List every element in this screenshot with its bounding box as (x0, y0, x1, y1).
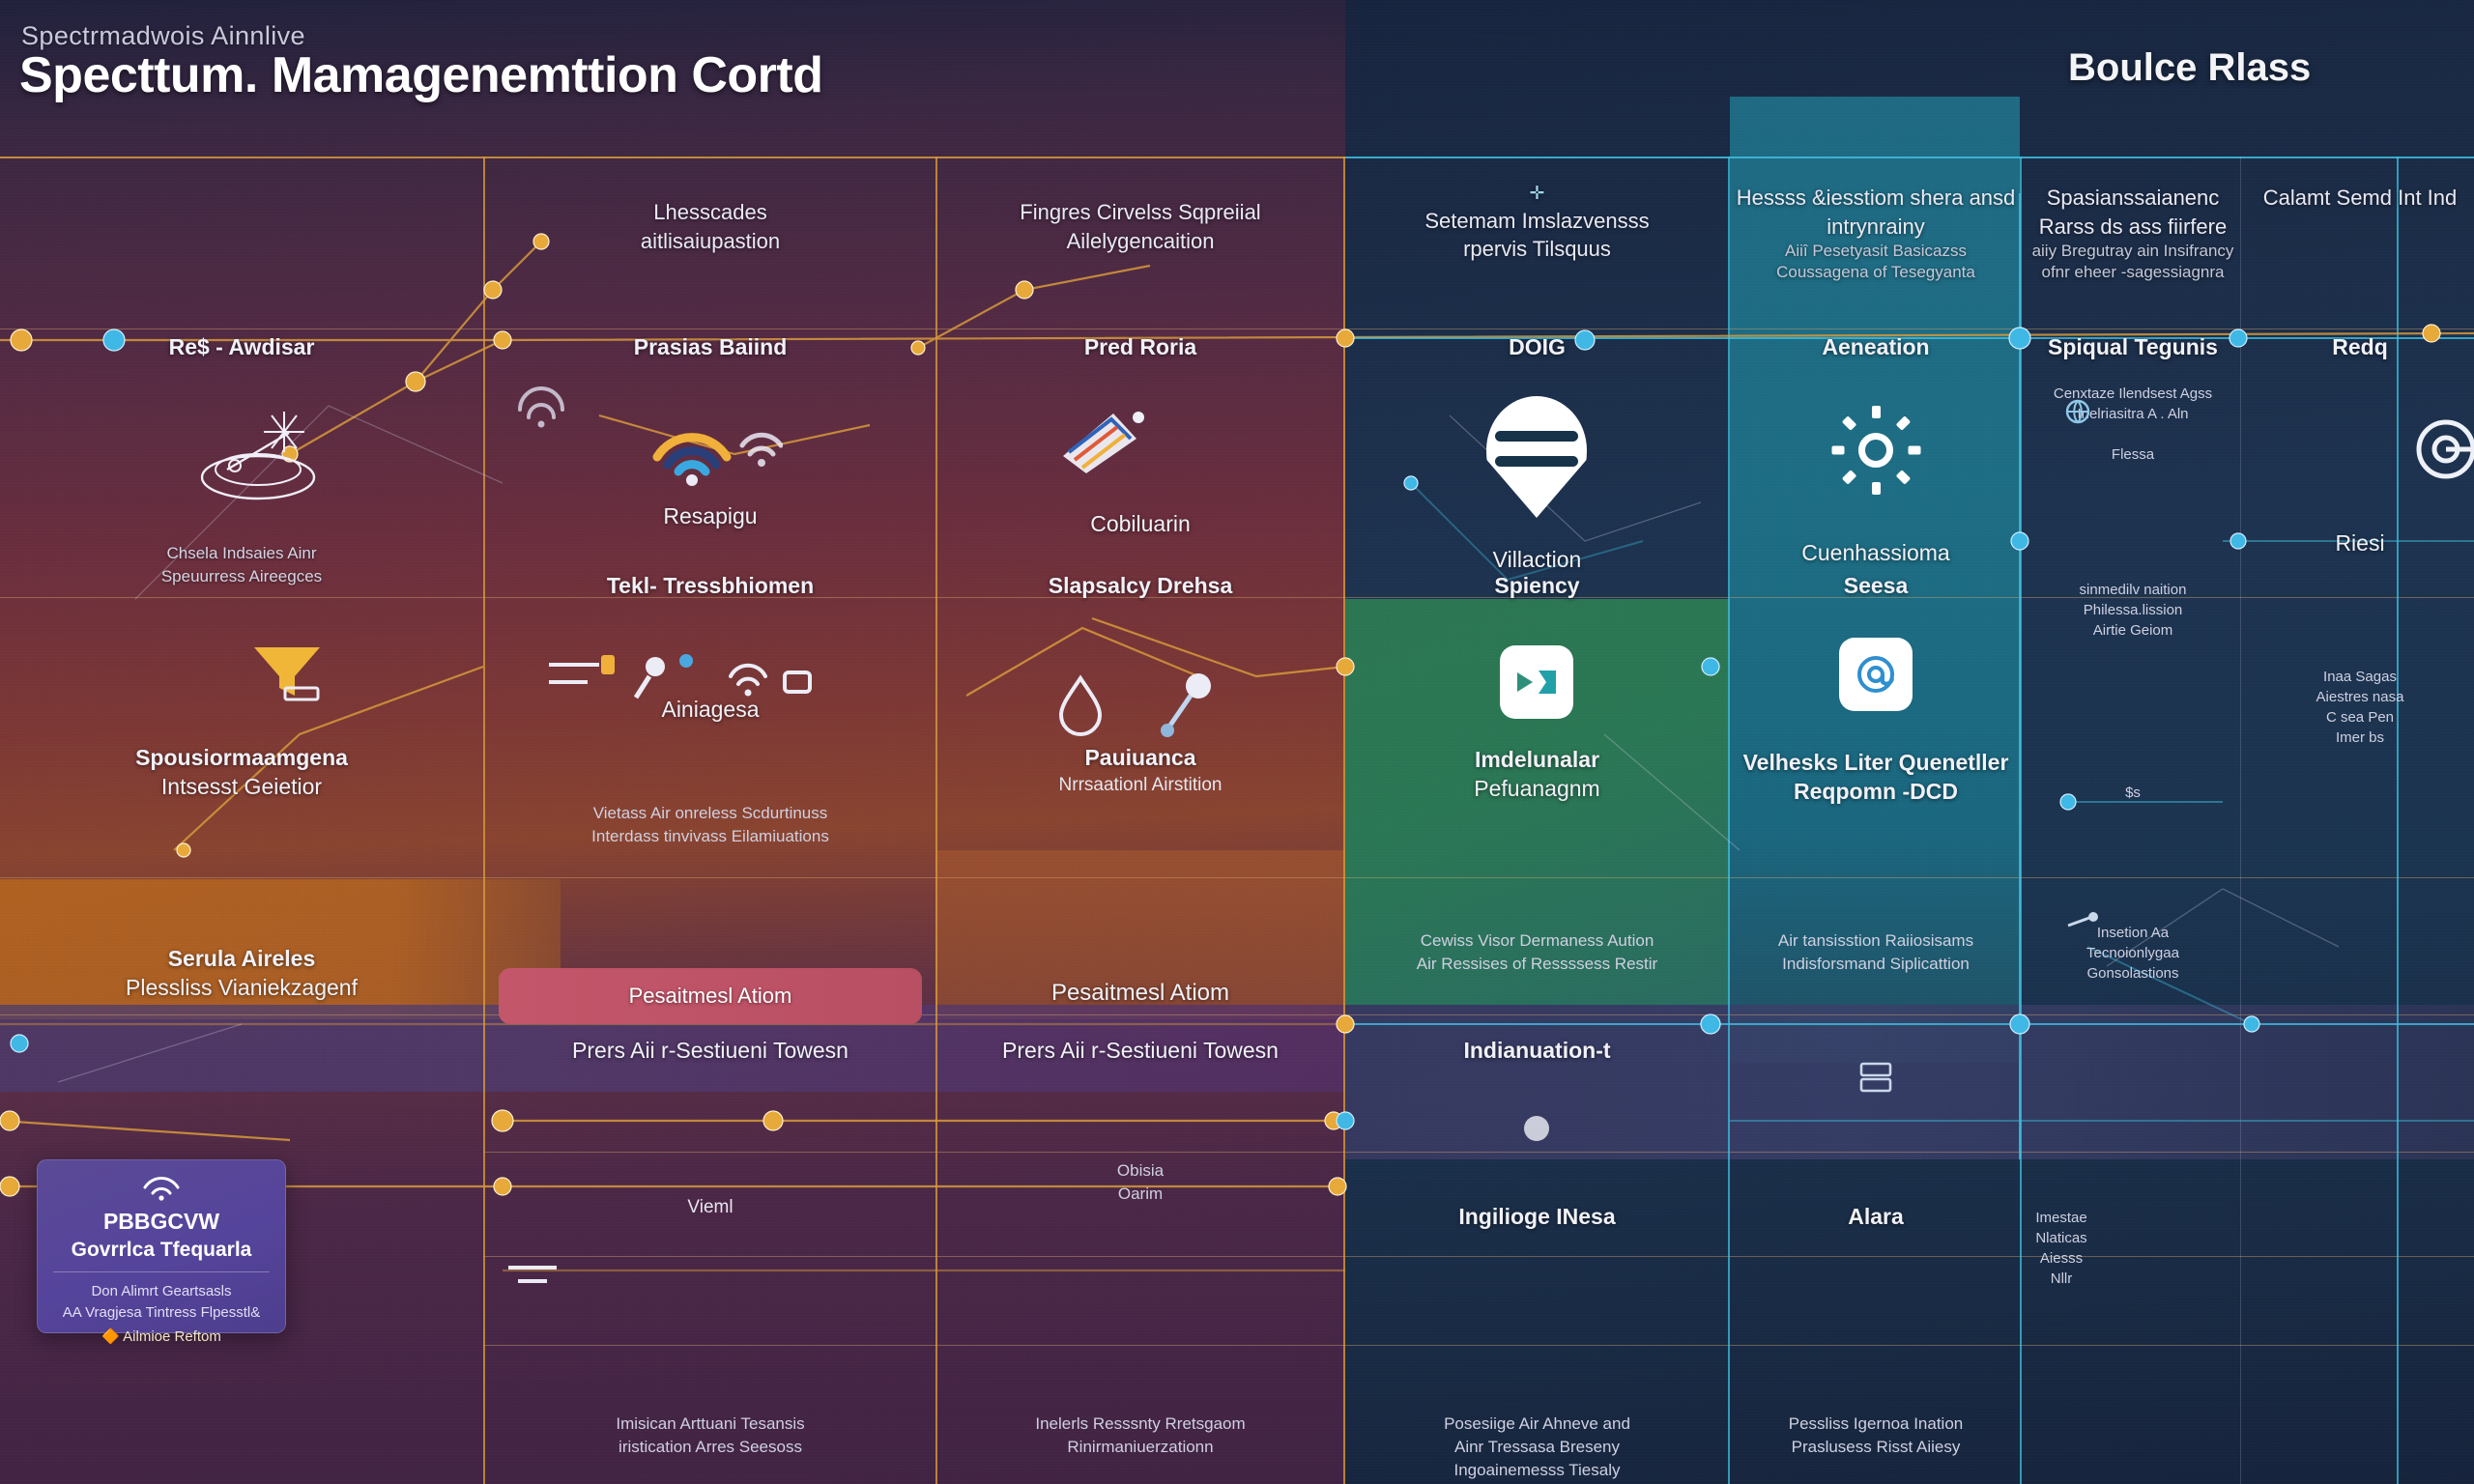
purple-band-right (1345, 1005, 2474, 1159)
cell-vieml[interactable]: Ingilioge INesa (1351, 1203, 1723, 1232)
infographic-canvas: Spectrmadwois Ainnlive Specttum. Mamagen… (0, 0, 2474, 1484)
at-sign-icon (1839, 638, 1913, 711)
legend-title-2: Govrrlca Tfequarla (47, 1238, 275, 1263)
cell-pesaitmesl-text[interactable]: Pesaitmesl Atiom (942, 978, 1338, 1008)
cell-title: Serula Aireles (19, 945, 464, 974)
cell-prers: Prers Aii r-Sestiueni Towesn (942, 1037, 1338, 1066)
cell-desc: Imestae Nlaticas Aiesss Nllr (2028, 1208, 2095, 1289)
cell-satellite[interactable]: Re$ - Awdisar (19, 333, 464, 362)
cell-desc: Pefuanagnm (1351, 775, 1723, 804)
cell-title: Pred Roria (942, 333, 1338, 362)
cell-title: Indianuation-t (1351, 1037, 1723, 1066)
cell-desc: Prers Aii r-Sestiueni Towesn (493, 1037, 928, 1066)
spark-icon: 🔶 (101, 1328, 120, 1345)
cell-spiency-desc: Imdelunalar Pefuanagnm (1351, 746, 1723, 804)
sunburst-icon (1831, 406, 1920, 495)
pill-label: Pesaitmesl Atiom (629, 984, 792, 1009)
column-header-title: Hessss &iesstiom shera ansd intrynrainy (1735, 184, 2017, 241)
cell-title: Imdelunalar (1351, 746, 1723, 775)
cell-desc: Cobiluarin (942, 510, 1338, 539)
cell-title: Velhesks Liter Quenetller (1735, 749, 2017, 778)
column-header-3: Fingres Cirvelss Sqpreiial Ailelygencait… (942, 198, 1338, 255)
page-title: Specttum. Mamagenemttion Cortd (19, 46, 823, 104)
cell-indianuation[interactable]: Indianuation-t (1351, 1037, 1723, 1066)
target-icon (2412, 415, 2474, 483)
cell-title: Pesaitmesl Atiom (942, 978, 1338, 1008)
serula-pill[interactable]: Pesaitmesl Atiom (499, 968, 922, 1024)
cell-title: Ingilioge INesa (1351, 1203, 1723, 1232)
cell-desc: Insetion Aa Tecnoionlygaa Gonsolastions (2028, 923, 2238, 984)
page-header: Spectrmadwois Ainnlive Specttum. Mamagen… (0, 0, 2474, 159)
cell-desc: sinmedilv naition Philessa.lission Airti… (2028, 580, 2238, 641)
cell-obisia[interactable]: Alara (1735, 1203, 2017, 1232)
chip-glyph (1513, 663, 1560, 701)
cell-desc: Cenxtaze Ilendsest Agss Inelriasitra A .… (2028, 384, 2238, 465)
column-header-subtitle: aiiy Bregutray ain Insifrancy ofnr eheer… (2028, 241, 2238, 283)
column-header-4: ✛ Setemam Imslazvensss rpervis Tilsquus (1351, 182, 1723, 264)
cell-desc: Villaction (1351, 546, 1723, 575)
cell-desc: Resapigu (493, 502, 928, 531)
legend-line-2: AA Vragjesa Tintress Flpesstl& (47, 1302, 275, 1324)
satellite-dish-icon (188, 406, 333, 512)
cell-redq[interactable]: Redq (2248, 333, 2472, 362)
cell-insetion: Inaa Sagas Aiestres nasa C sea Pen Imer … (2248, 667, 2472, 748)
cell-title: Aeneation (1735, 333, 2017, 362)
cell-flont: Air tansisstion Raiiosisams Indisforsman… (1735, 929, 2017, 976)
cell-desc: Ainiagesa (493, 696, 928, 725)
cell-aelanvastieny: Inelerls Resssnty Rretsgaom Rinirmaniuer… (942, 1413, 1338, 1459)
cell-tekl[interactable]: Tekl- Tressbhiomen (493, 572, 928, 601)
node-icon (1519, 1111, 1554, 1146)
wifi-icon (638, 401, 783, 488)
cell-title: Prasias Baiind (493, 333, 928, 362)
cell-desc: Posesiige Air Ahneve and Ainr Tressasa B… (1351, 1413, 1723, 1484)
cell-lnitun: Imisican Arttuani Tesansis iristication … (493, 1413, 928, 1459)
cell-title: Alara (1735, 1203, 2017, 1232)
cell-seesa-desc: Velhesks Liter Quenetller Reqpomn -DCD (1735, 749, 2017, 807)
cell-title: Spousiormaamgena (19, 744, 464, 773)
at-glyph (1854, 652, 1898, 697)
cell-redq-desc: Riesi (2248, 529, 2472, 558)
cell-desc: Inelerls Resssnty Rretsgaom Rinirmaniuer… (942, 1413, 1338, 1459)
cell-title: Pauiuanca (942, 744, 1338, 773)
cell-title: Seesa (1735, 572, 2017, 601)
cell-title: Obisia (942, 1159, 1338, 1183)
cell-desc: Nrrsaationl Airstition (942, 773, 1338, 798)
column-header-title: Setemam Imslazvensss (1351, 207, 1723, 236)
broadcast-icon (1053, 396, 1160, 483)
column-header-title: Spasianssaianenc Rarss ds ass fiirfere (2028, 184, 2238, 241)
cell-desc: Reqpomn -DCD (1735, 778, 2017, 807)
legend-line-1: Don Alimrt Geartsasls (47, 1281, 275, 1302)
column-header-subtitle: Aiiî Pesetyasit Basicazss Coussagena of … (1735, 241, 2017, 283)
cell-desc: Vieml (493, 1195, 928, 1220)
globe-icon (2064, 398, 2091, 425)
cell-imisican: Posesiige Air Ahneve and Ainr Tressasa B… (1351, 1413, 1723, 1484)
cell-title: Spiency (1351, 572, 1723, 601)
cell-desc: Cewiss Visor Dermaness Aution Air Ressis… (1351, 929, 1723, 976)
cell-tekl-desc: Ainiagesa (493, 696, 928, 725)
cell-airtansis: Cewiss Visor Dermaness Aution Air Ressis… (1351, 929, 1723, 976)
cell-band-desc: Resapigu (493, 502, 928, 531)
legend-footer: 🔶 Ailmioe Reftom (47, 1327, 275, 1345)
column-header-title: Calamt Semd Int Ind (2248, 184, 2472, 213)
cell-desc: Intsesst Geietior (19, 773, 464, 802)
cell-seesa[interactable]: Seesa (1735, 572, 2017, 601)
cell-title: Re$ - Awdisar (19, 333, 464, 362)
droplet-antenna-icon (1053, 667, 1247, 744)
cell-desc: Plessliss Vianiekzagenf (19, 974, 464, 1003)
legend-divider (53, 1271, 270, 1272)
map-pin-icon (1486, 396, 1587, 518)
antenna-small-icon (2064, 908, 2105, 931)
cell-viet: Vietass Air onreless Scdurtinuss Interda… (493, 802, 928, 848)
cell-spousior[interactable]: Spousiormaamgena Intsesst Geietior (19, 744, 464, 802)
cell-title: Spiqual Tegunis (2028, 333, 2238, 362)
server-icon (1855, 1058, 1898, 1097)
cell-desc: Air tansisstion Raiiosisams Indisforsman… (1735, 929, 2017, 976)
cell-slapsalcy[interactable]: Slapsalcy Drehsa (942, 572, 1338, 601)
cell-desc: Inaa Sagas Aiestres nasa C sea Pen Imer … (2248, 667, 2472, 748)
cell-doig[interactable]: DOIG (1351, 333, 1723, 362)
cell-micro: Imestae Nlaticas Aiesss Nllr (2028, 1208, 2095, 1289)
cell-wress: Pauiuanca Nrrsaationl Airstition (942, 744, 1338, 798)
cell-plessliss: Prers Aii r-Sestiueni Towesn (493, 1037, 928, 1066)
cell-desc: Pessliss Igernoa Ination Praslusess Riss… (1735, 1413, 2017, 1459)
column-header-title: Fingres Cirvelss Sqpreiial (942, 198, 1338, 227)
chip-icon (1500, 645, 1573, 719)
cell-indsteran: Obisia Oarim (942, 1159, 1338, 1206)
cell-title: Slapsalcy Drehsa (942, 572, 1338, 601)
cell-title: DOIG (1351, 333, 1723, 362)
cell-sinmedilv: Insetion Aa Tecnoionlygaa Gonsolastions (2028, 923, 2238, 984)
cell-roria-desc: Cobiluarin (942, 510, 1338, 539)
cell-desc: Vietass Air onreless Scdurtinuss Interda… (493, 802, 928, 848)
cell-posesiige: sinmedilv naition Philessa.lission Airti… (2028, 580, 2238, 641)
legend-title-1: PBBGCVW (47, 1208, 275, 1236)
cell-roria[interactable]: Pred Roria (942, 333, 1338, 362)
cell-desc: Prers Aii r-Sestiueni Towesn (942, 1037, 1338, 1066)
cell-pessliss: $s (2028, 783, 2238, 803)
column-header-subtitle: aitlisaiupastion (493, 227, 928, 256)
column-header-subtitle: rpervis Tilsquus (1351, 235, 1723, 264)
column-header-5: Hessss &iesstiom shera ansd intrynrainy … (1735, 184, 2017, 284)
cell-satellite-desc: Chsela Indsaies Ainr Speuurress Aireegce… (19, 536, 464, 588)
legend-footer-label: Ailmioe Reftom (123, 1328, 221, 1345)
cell-velhesks-text[interactable]: Serula Aireles Plessliss Vianiekzagenf (19, 945, 464, 1003)
cell-desc: Cuenhassioma (1735, 539, 2017, 568)
column-header-7: Calamt Semd Int Ind (2248, 184, 2472, 213)
cell-spiqual[interactable]: Spiqual Tegunis Cenxtaze Ilendsest Agss … (2028, 333, 2238, 465)
column-header-subtitle: Ailelygencaition (942, 227, 1338, 256)
cell-band[interactable]: Prasias Baiind (493, 333, 928, 362)
funnel-icon (246, 638, 333, 705)
wifi-icon (140, 1172, 183, 1201)
cell-title: Tekl- Tressbhiomen (493, 572, 928, 601)
equalizer-icon (503, 1256, 570, 1295)
column-header-2: Lhesscades aitlisaiupastion (493, 198, 928, 255)
cell-title: Redq (2248, 333, 2472, 362)
cell-desc: Oarim (942, 1183, 1338, 1206)
cell-aeneation-desc: Cuenhassioma (1735, 539, 2017, 568)
secondary-title: Boulce Rlass (2068, 46, 2311, 90)
cell-arrfuig: Vieml (493, 1195, 928, 1220)
cell-desc: $s (2028, 783, 2238, 803)
cell-inelerls: Pessliss Igernoa Ination Praslusess Riss… (1735, 1413, 2017, 1459)
cell-spiency[interactable]: Spiency (1351, 572, 1723, 601)
cell-desc: Chsela Indsaies Ainr Speuurress Aireegce… (19, 542, 464, 588)
wifi-small-icon (512, 385, 570, 431)
legend-card[interactable]: PBBGCVW Govrrlca Tfequarla Don Alimrt Ge… (37, 1159, 286, 1333)
column-header-title: Lhesscades (493, 198, 928, 227)
cell-doig-desc: Villaction (1351, 546, 1723, 575)
column-header-6: Spasianssaianenc Rarss ds ass fiirfere a… (2028, 184, 2238, 284)
cell-desc: Riesi (2248, 529, 2472, 558)
cell-aeneation[interactable]: Aeneation (1735, 333, 2017, 362)
cell-desc: Imisican Arttuani Tesansis iristication … (493, 1413, 928, 1459)
